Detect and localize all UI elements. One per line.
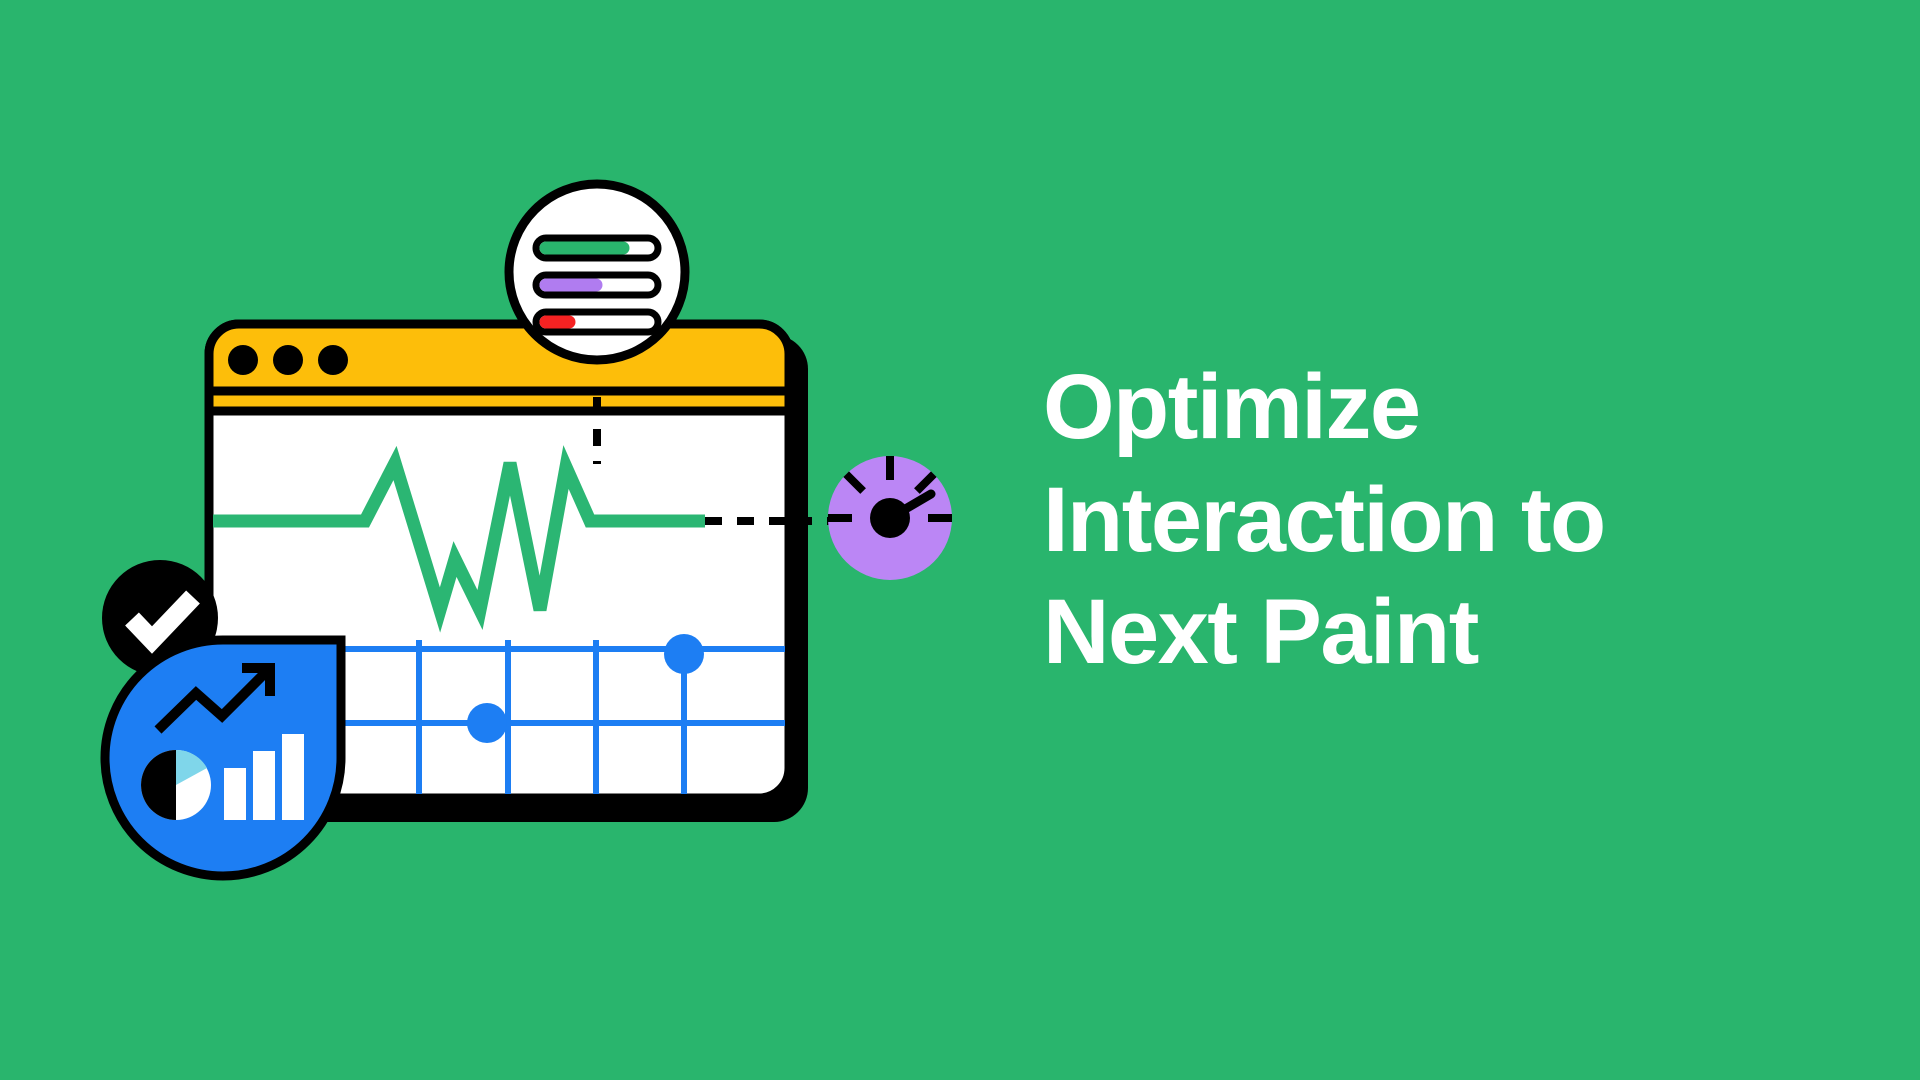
progress-bar-green (536, 238, 658, 258)
headline-line-2: Interaction to (1043, 464, 1863, 576)
pie-chart-icon (141, 750, 211, 820)
progress-fill-red (540, 316, 576, 329)
headline-line-1: Optimize (1043, 351, 1863, 463)
gauge-hub (870, 498, 910, 538)
teardrop-shape (105, 640, 341, 876)
analytics-teardrop[interactable] (105, 640, 341, 876)
progress-fill-purple (540, 279, 603, 292)
close-dot[interactable] (228, 345, 258, 375)
speed-gauge[interactable] (828, 456, 952, 580)
mini-bar-3 (282, 734, 304, 820)
progress-bar-purple (536, 275, 658, 295)
grid-marker-1[interactable] (664, 634, 704, 674)
progress-fill-green (540, 242, 630, 255)
progress-bars-badge[interactable] (509, 184, 685, 360)
headline-line-3: Next Paint (1043, 576, 1863, 688)
mini-bar-1 (224, 768, 246, 820)
hero-banner: Optimize Interaction to Next Paint (0, 0, 1920, 1080)
progress-bar-red (536, 312, 658, 332)
minimize-dot[interactable] (273, 345, 303, 375)
illustration (0, 0, 1030, 1080)
maximize-dot[interactable] (318, 345, 348, 375)
page-title: Optimize Interaction to Next Paint (1043, 351, 1863, 688)
mini-bar-2 (253, 751, 275, 820)
grid-marker-2[interactable] (467, 703, 507, 743)
